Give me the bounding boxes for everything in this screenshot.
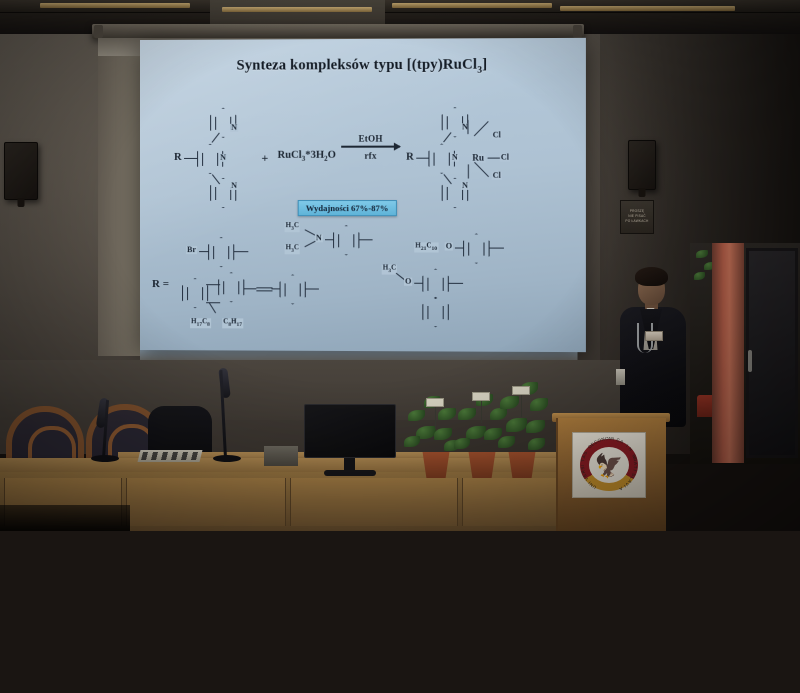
bond	[325, 239, 334, 240]
oxygen-atom: O	[404, 278, 412, 286]
structural-column	[712, 243, 744, 463]
university-crest: 🦅 UNIVERSITAS OECONOMICA IN WRATISLAVIA	[572, 432, 646, 498]
leaf	[506, 418, 527, 432]
presenter	[612, 265, 696, 435]
nitrogen-atom-bottom: N	[461, 182, 469, 190]
papers-on-desk	[138, 450, 203, 462]
foreground-shadow	[0, 505, 130, 531]
wall-speaker-left	[4, 142, 38, 200]
crest-char: A	[618, 486, 623, 492]
bond-to-quaternary	[209, 303, 217, 314]
ceiling-light	[222, 7, 372, 12]
computer-monitor[interactable]	[304, 404, 396, 458]
wall-speaker-right	[628, 140, 656, 190]
ceiling-light	[40, 3, 190, 8]
nitrogen-amine: N	[315, 234, 323, 242]
microphone-base	[213, 455, 241, 462]
yield-callout: Wydajności 67%-87%	[298, 200, 397, 216]
bond	[206, 284, 220, 285]
housing-cap-left	[94, 25, 103, 38]
ring-inner-bonds	[422, 269, 448, 299]
reagent-mid: *3H	[305, 150, 324, 161]
speaker-mount	[18, 198, 25, 207]
leaf	[434, 428, 452, 440]
leaf	[498, 436, 515, 448]
crest-char: I	[632, 469, 637, 471]
leaf	[696, 250, 708, 258]
leaf	[408, 410, 425, 421]
slide-title-main: Synteza kompleksów typu [(tpy)RuCl	[237, 57, 478, 74]
bromine-label: Br	[186, 246, 197, 254]
name-badge	[645, 331, 663, 341]
reagent-formula: RuCl3*3H2O	[278, 150, 336, 163]
desk-panel-section	[290, 478, 458, 526]
bond	[199, 251, 209, 252]
plant-label-tag	[426, 398, 444, 407]
paper-print-lines	[141, 452, 199, 460]
alkyne-bond-lower	[256, 290, 272, 291]
ring-inner-bonds	[218, 272, 244, 302]
door-handle[interactable]	[748, 350, 752, 372]
plus-sign: +	[261, 151, 268, 166]
presentation-slide: Synteza kompleksów typu [(tpy)RuCl3] R N…	[140, 38, 586, 352]
crest-char: N	[627, 446, 633, 452]
ring-inner-bonds	[182, 278, 208, 308]
leaf	[530, 398, 548, 411]
leaf	[528, 438, 545, 450]
leaf	[526, 420, 545, 433]
conference-tag	[616, 369, 625, 385]
slide-title: Synteza kompleksów typu [(tpy)RuCl3]	[140, 56, 586, 77]
decyl-chain-label: H21C10	[414, 242, 438, 252]
bond-attachment	[234, 251, 248, 252]
octyl-chain-left: H17C8	[190, 318, 211, 328]
bond	[184, 158, 198, 159]
r-group-right: R	[406, 152, 414, 163]
nitrogen-atom-bottom: N	[230, 182, 238, 190]
solvent-label: EtOH	[341, 134, 400, 144]
bond-to-cl	[474, 162, 489, 178]
bond-attachment	[359, 239, 372, 240]
nitrogen-atom: N	[219, 154, 227, 162]
crest-char: A	[619, 439, 624, 445]
nitrogen-atom-top: N	[230, 124, 238, 132]
bond-n-ru	[467, 120, 468, 134]
bond	[416, 158, 429, 159]
ring-inner-bonds	[463, 233, 490, 263]
alkyne-bond-upper	[256, 287, 272, 288]
projection-screen: Synteza kompleksów typu [(tpy)RuCl3] R N…	[140, 38, 586, 352]
sign-line-3: PO ŁAWKACH	[625, 220, 648, 224]
ring-inner-bonds	[333, 225, 359, 255]
glass-door[interactable]	[746, 248, 798, 458]
crest-inscription: UNIVERSITAS OECONOMICA IN WRATISLAVIA	[576, 435, 642, 495]
leaf	[500, 396, 519, 409]
nitrogen-atom: N	[451, 154, 459, 162]
wall-notice-sign: PROSZĘ NIE PISAĆ PO ŁAWKACH	[620, 200, 654, 234]
reagent-end: O	[328, 150, 336, 161]
desk-equipment-box	[264, 446, 298, 466]
oxygen-atom: O	[445, 242, 453, 250]
slide-title-end: ]	[482, 57, 487, 73]
chloride-atom-2: Cl	[500, 154, 510, 162]
bond	[244, 288, 256, 289]
r-group-left: R	[174, 152, 182, 163]
bond	[414, 283, 423, 284]
bond-attachment	[490, 248, 504, 249]
housing-cap-right	[573, 25, 582, 38]
leaf	[458, 408, 476, 420]
leaf	[466, 426, 486, 439]
ceiling-light	[392, 3, 552, 8]
leaf	[404, 436, 420, 447]
speaker-mount	[639, 188, 646, 197]
crest-char: I	[612, 436, 614, 441]
ring-inner-bonds	[280, 274, 306, 304]
reagent-base: RuCl	[278, 150, 302, 161]
bond	[304, 241, 315, 248]
bond	[455, 248, 464, 249]
ring-inner-bonds	[422, 297, 448, 327]
crest-char: I	[580, 464, 585, 466]
monitor-stand-base	[324, 470, 376, 476]
reaction-arrow	[341, 146, 400, 148]
lecture-hall-scene: PROSZĘ NIE PISAĆ PO ŁAWKACH Synteza komp…	[0, 0, 800, 531]
bond-n-ru	[467, 164, 468, 178]
bond	[271, 288, 280, 289]
desk-panel-section	[126, 478, 286, 526]
crest-char: T	[633, 466, 638, 469]
hair	[635, 267, 668, 286]
reaction-arrow-group: EtOH rfx	[341, 134, 400, 161]
leaf	[454, 438, 470, 449]
microphone-base	[91, 455, 119, 462]
octyl-chain-right: C8H17	[222, 318, 243, 328]
ruthenium-atom: Ru	[471, 154, 485, 163]
screen-housing	[92, 24, 584, 39]
plant-label-tag	[472, 392, 490, 401]
bond-attachment	[306, 288, 319, 289]
chloride-atom-1: Cl	[492, 131, 502, 139]
ring-inner-bonds	[208, 237, 234, 267]
methyl-label-bottom: H3C	[285, 244, 300, 254]
crest-char: T	[580, 459, 585, 463]
chloride-atom-3: Cl	[492, 172, 502, 180]
ceiling-light	[560, 6, 735, 11]
r-definition-label: R =	[152, 278, 169, 290]
methyl-label-top: H3C	[285, 222, 300, 232]
screen-left-margin	[98, 44, 142, 356]
bond-attachment	[449, 283, 463, 284]
conditions-label: rfx	[341, 150, 400, 160]
bond-to-cl	[474, 121, 489, 137]
plant-label-tag	[512, 386, 530, 395]
